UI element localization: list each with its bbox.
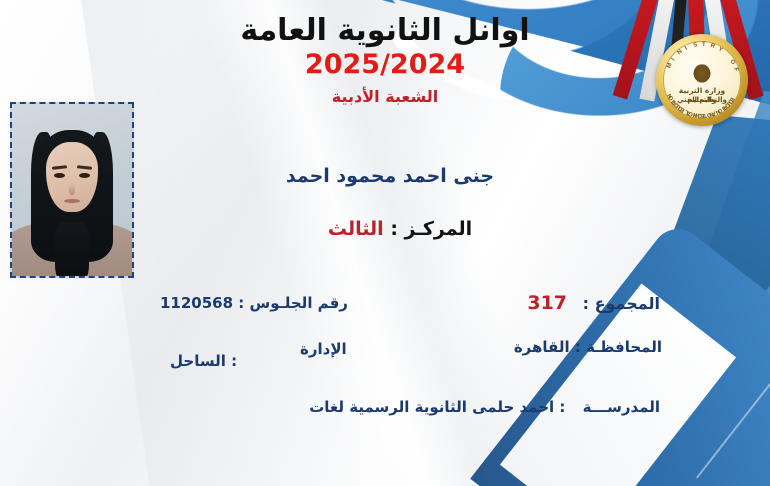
student-name: جنى احمد محمود احمد xyxy=(150,165,630,187)
rank-label: المركـز : xyxy=(390,218,472,240)
certificate-card: وزارة التربية والتعليم والتعليم الفني MI… xyxy=(0,0,770,486)
total-score-label: المجموع : xyxy=(583,294,660,313)
seat-number-value: 1120568 xyxy=(160,294,233,312)
page-title: اوانل الثانوية العامة xyxy=(0,14,770,48)
governorate-value: القاهرة xyxy=(514,338,570,356)
academic-year: 2025/2024 xyxy=(0,50,770,80)
school-value: : احمد حلمى الثانوية الرسمية لغات xyxy=(309,398,565,416)
administration-label: الإدارة xyxy=(300,340,347,358)
total-score-row: المجموع : 317 xyxy=(527,292,660,314)
school-row: المدرســـة : احمد حلمى الثانوية الرسمية … xyxy=(309,398,660,416)
school-label: المدرســـة xyxy=(583,398,660,416)
governorate-row: المحافظـة : القاهرة xyxy=(514,338,662,356)
seat-number-row: رقم الجلـوس : 1120568 xyxy=(160,294,348,312)
rank-row: المركـز : الثالث xyxy=(170,218,620,240)
rank-value: الثالث xyxy=(328,218,384,240)
student-photo xyxy=(10,102,134,278)
governorate-label: المحافظـة : xyxy=(575,338,662,356)
seat-number-label: رقم الجلـوس : xyxy=(238,294,348,312)
header: اوانل الثانوية العامة 2025/2024 الشعبة ا… xyxy=(0,14,770,106)
total-score-value: 317 xyxy=(527,292,567,314)
administration-value: : الساحل xyxy=(170,352,237,370)
